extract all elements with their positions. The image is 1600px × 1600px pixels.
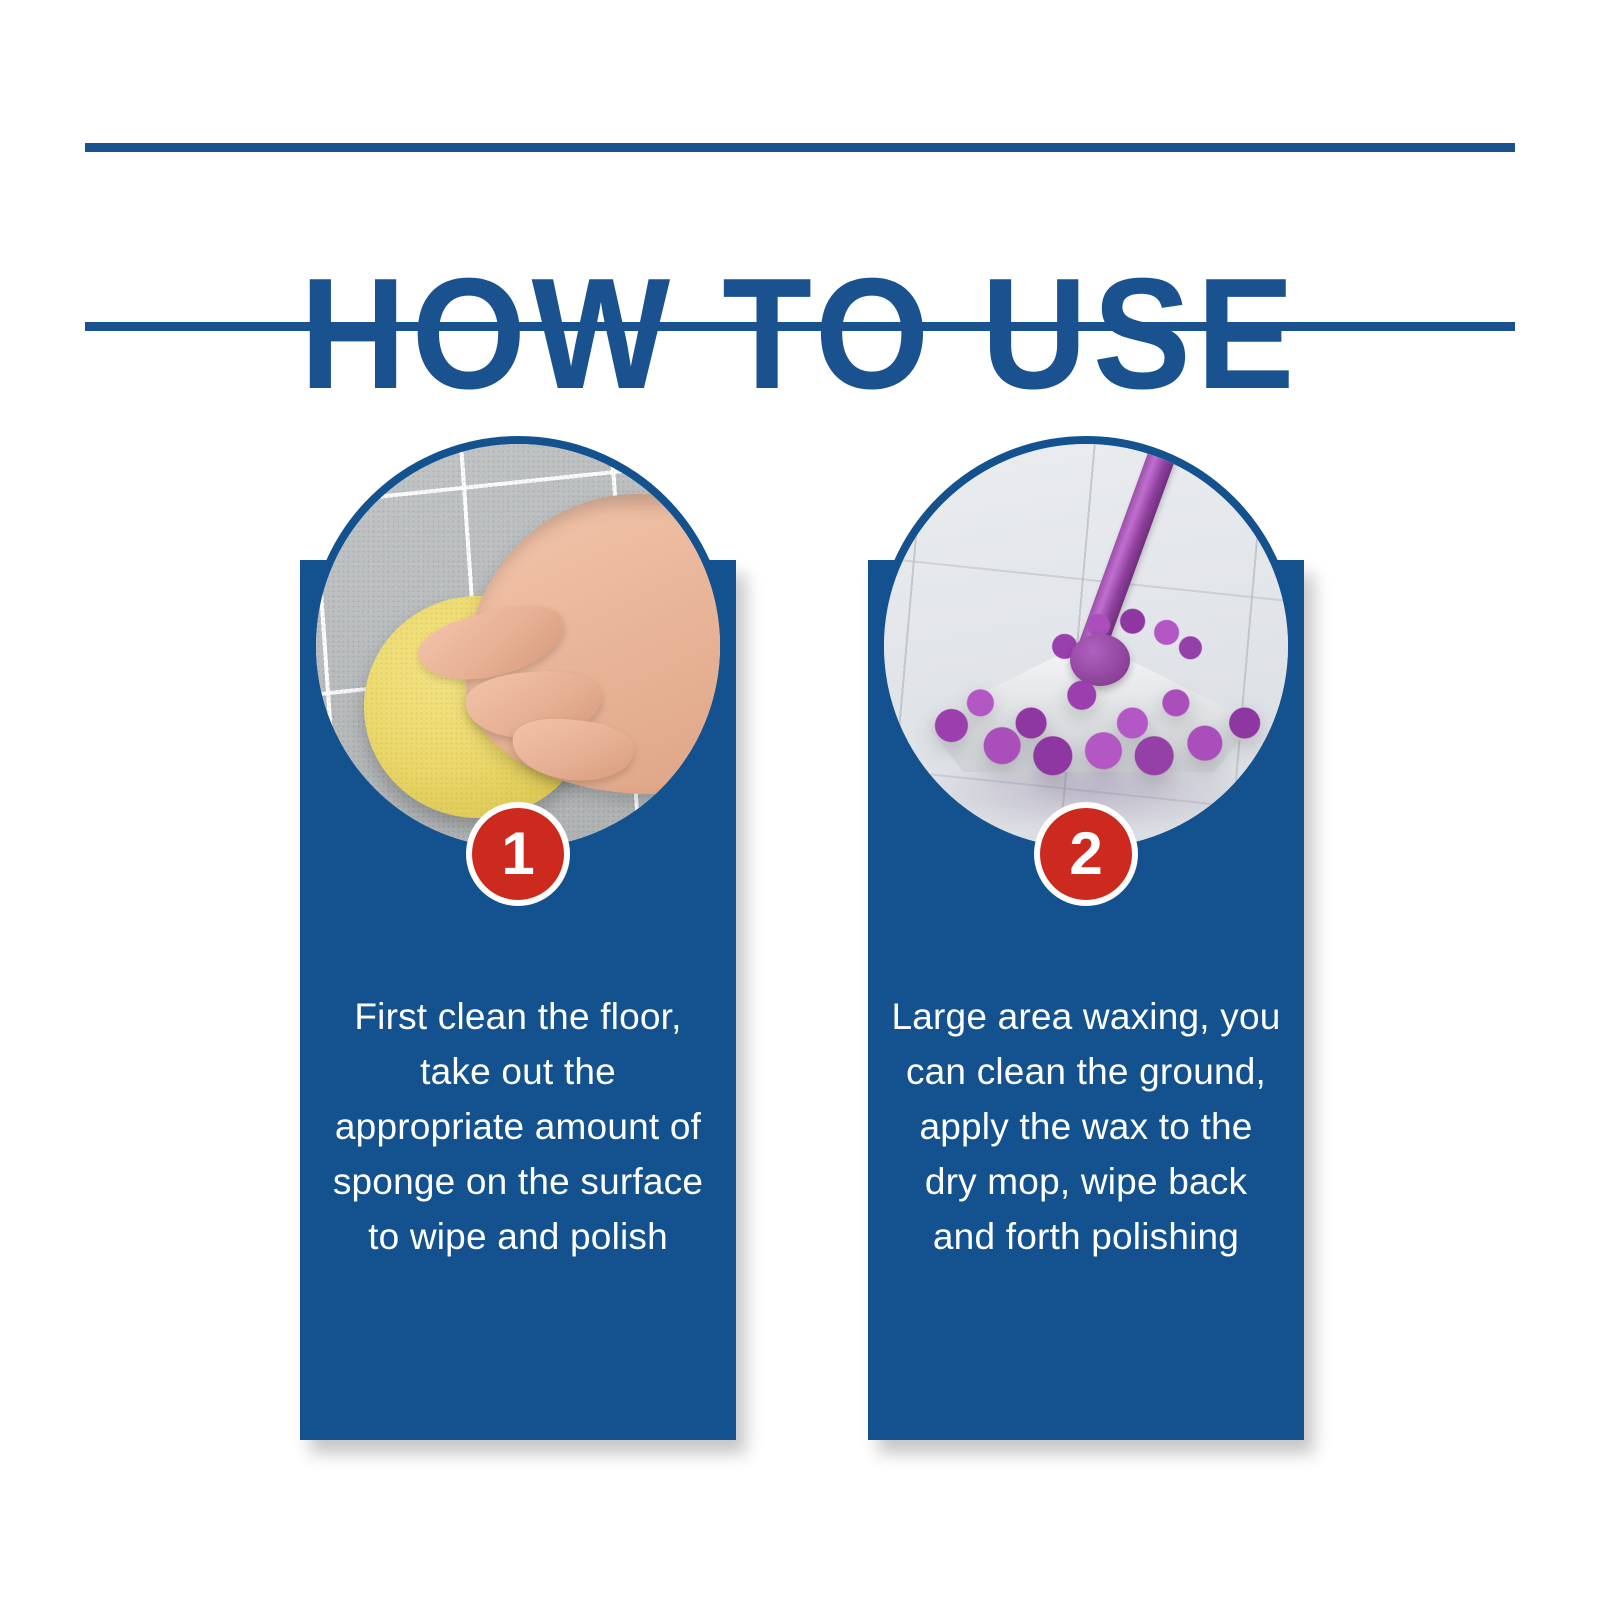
step-1-description: First clean the floor, take out the appr…	[322, 989, 714, 1264]
step-number-badge-1: 1	[466, 802, 570, 906]
step-card-2: 2 Large area waxing, you can clean the g…	[868, 560, 1304, 1440]
step-1-photo	[308, 436, 728, 856]
title-rule-top	[85, 143, 1515, 152]
infographic-page: HOW TO USE 1 First clean the floor, take…	[0, 0, 1600, 1600]
page-title: HOW TO USE	[56, 258, 1544, 410]
step-2-photo	[876, 436, 1296, 856]
step-number-badge-2: 2	[1034, 802, 1138, 906]
mop-fringe-icon	[908, 660, 1270, 786]
title-rule-bottom	[85, 322, 1515, 331]
step-2-description: Large area waxing, you can clean the gro…	[890, 989, 1282, 1264]
step-card-1: 1 First clean the floor, take out the ap…	[300, 560, 736, 1440]
